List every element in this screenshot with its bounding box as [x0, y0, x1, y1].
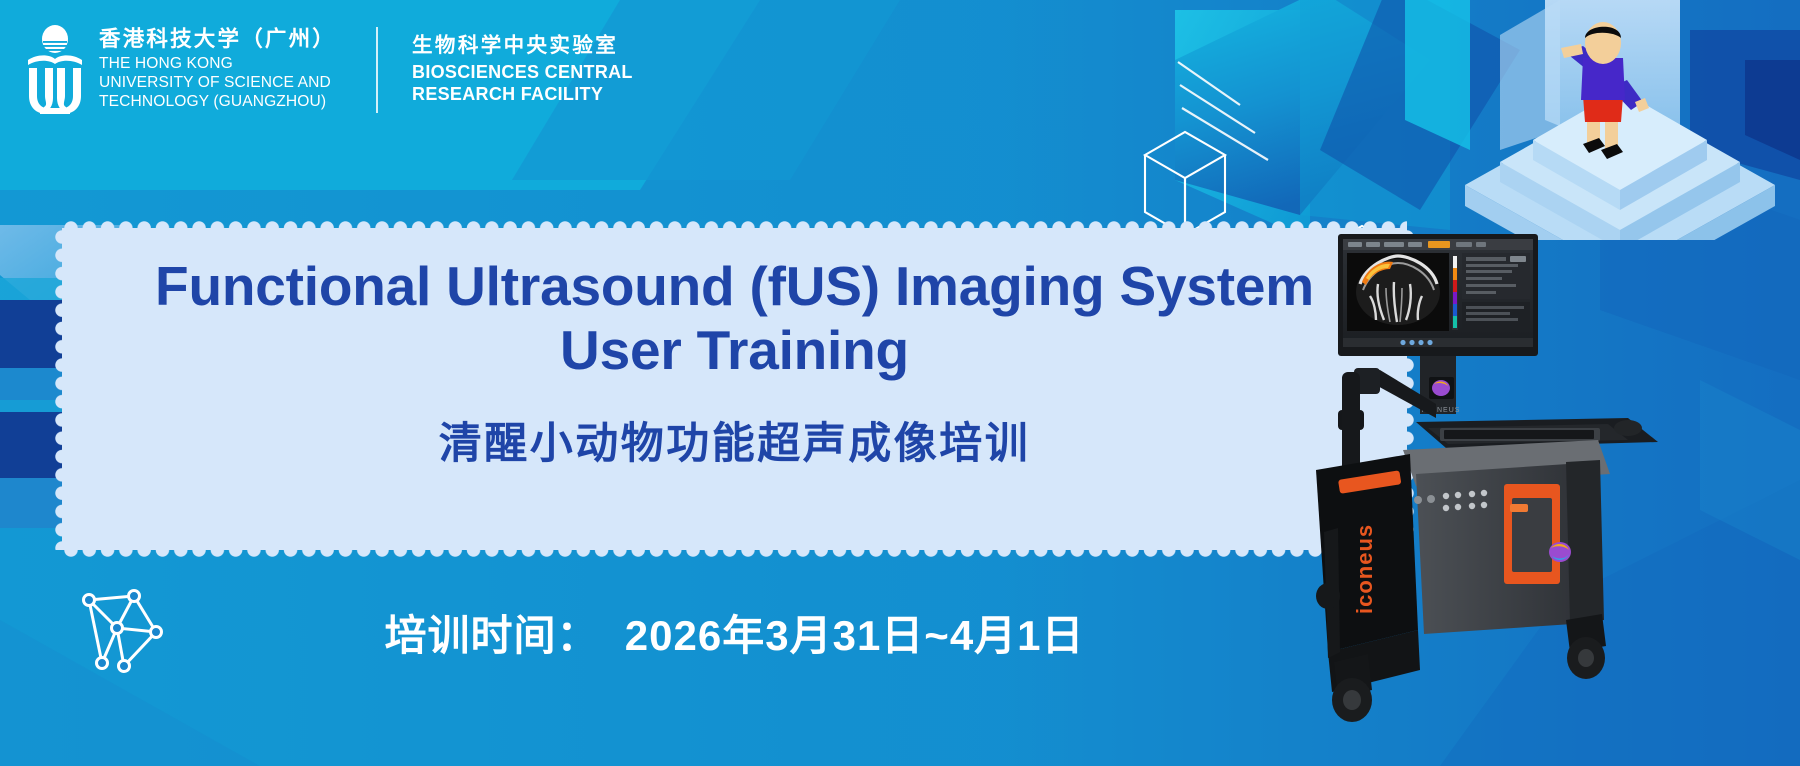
university-name-en-line-2: UNIVERSITY OF SCIENCE AND: [99, 73, 336, 92]
university-name-en-line-1: THE HONG KONG: [99, 54, 336, 73]
facility-name-en-line-2: RESEARCH FACILITY: [412, 84, 633, 106]
event-banner: 香港科技大学（广州） THE HONG KONG UNIVERSITY OF S…: [0, 0, 1800, 766]
title-card: Functional Ultrasound (fUS) Imaging Syst…: [62, 228, 1407, 550]
facility-name: 生物科学中央实验室 BIOSCIENCES CENTRAL RESEARCH F…: [412, 35, 633, 105]
university-name-cn: 香港科技大学（广州）: [99, 29, 336, 51]
page-title: Functional Ultrasound (fUS) Imaging Syst…: [120, 254, 1350, 383]
logo-divider: [376, 27, 378, 113]
facility-name-en-line-1: BIOSCIENCES CENTRAL: [412, 62, 633, 84]
isometric-illustration: [1455, 10, 1800, 240]
university-name-en-line-3: TECHNOLOGY (GUANGZHOU): [99, 92, 336, 111]
logo-lockup: 香港科技大学（广州） THE HONG KONG UNIVERSITY OF S…: [24, 24, 633, 116]
training-date: 培训时间： 2026年3月31日~4月1日: [62, 602, 1407, 663]
device-brand-label: iconeus: [1352, 524, 1377, 614]
fus-imaging-device: ICONEUS: [1298, 222, 1798, 742]
hkust-crest-icon: [24, 24, 86, 116]
page-subtitle-cn: 清醒小动物功能超声成像培训: [439, 409, 1031, 471]
device-body: [1403, 440, 1610, 634]
facility-name-cn: 生物科学中央实验室: [412, 35, 633, 57]
university-name: 香港科技大学（广州） THE HONG KONG UNIVERSITY OF S…: [99, 29, 336, 112]
